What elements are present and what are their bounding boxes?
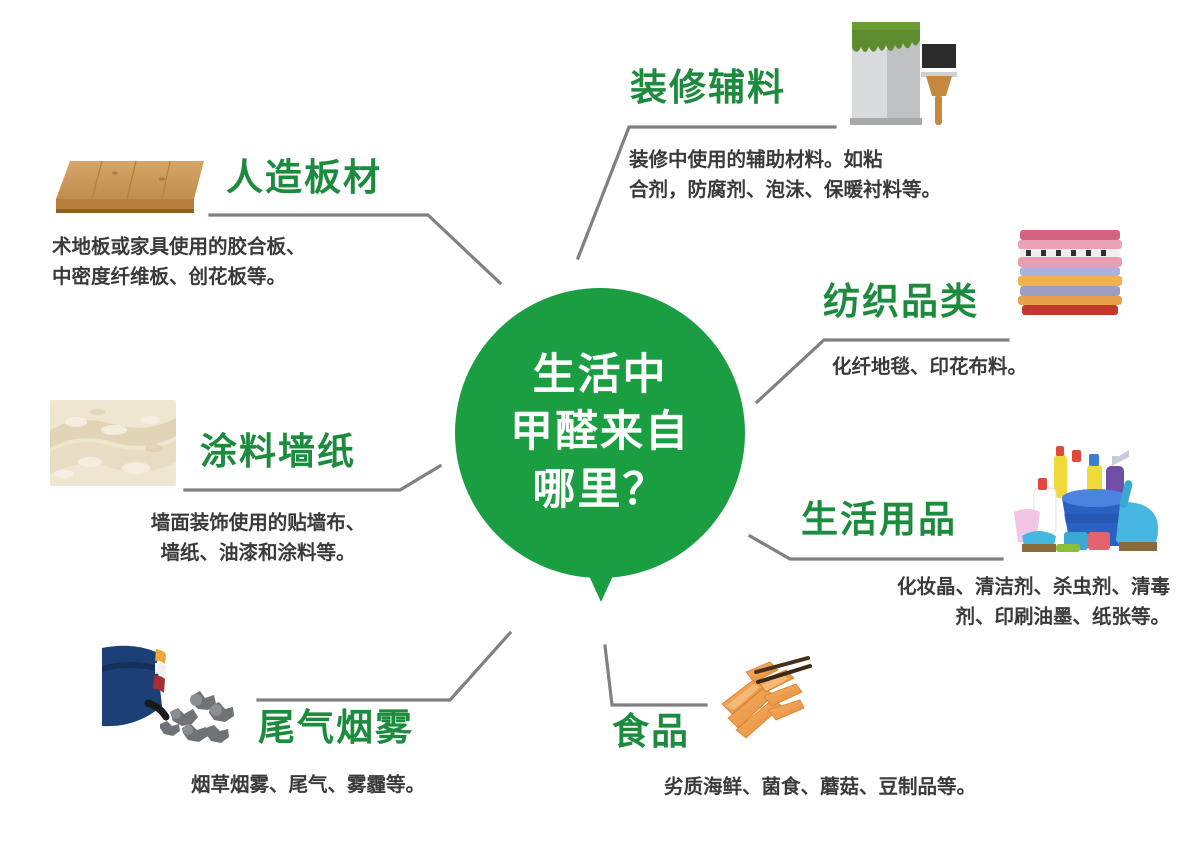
folded-towels-icon <box>1014 228 1126 320</box>
node-desc-wrap-artificial-boards: 术地板或家具使用的胶合板、 中密度纤维板、创花板等。 <box>52 232 452 292</box>
node-desc-daily-necessities: 化妆晶、清洁剂、杀虫剂、清毒 剂、印刷油墨、纸张等。 <box>790 572 1170 632</box>
node-desc-exhaust-smoke: 烟草烟雾、尾气、雾霾等。 <box>108 770 508 800</box>
node-exhaust-smoke[interactable]: 尾气烟雾 <box>258 708 414 747</box>
node-title-food: 食品 <box>612 712 690 751</box>
connector-food <box>605 646 706 705</box>
dried-tofu-chopsticks-icon <box>712 648 822 748</box>
node-decoration-materials[interactable]: 装修辅料 <box>630 68 786 107</box>
node-desc-wrap-paint-wallpaper: 墙面装饰使用的贴墙布、 墙纸、油漆和涂料等。 <box>78 508 438 568</box>
center-bubble-text: 生活中 甲醛来自 哪里？ <box>455 288 745 578</box>
wallpaper-rolls-icon <box>50 400 176 486</box>
center-bubble: 生活中 甲醛来自 哪里？ <box>455 288 745 618</box>
node-paint-wallpaper[interactable]: 涂料墙纸 <box>200 432 356 471</box>
center-bubble-line-3: 哪里？ <box>533 462 668 519</box>
center-bubble-line-2: 甲醛来自 <box>510 404 690 461</box>
node-desc-decoration-materials: 装修中使用的辅助材料。如粘 合剂，防腐剂、泡沫、保暖衬料等。 <box>629 145 1049 205</box>
node-food[interactable]: 食品 <box>612 712 690 751</box>
node-desc-food: 劣质海鲜、菌食、蘑菇、豆制品等。 <box>560 772 1080 802</box>
node-textiles[interactable]: 纺织品类 <box>823 282 979 321</box>
node-title-daily-necessities: 生活用品 <box>801 500 957 539</box>
wood-board-icon <box>52 155 212 220</box>
node-desc-wrap-food: 劣质海鲜、菌食、蘑菇、豆制品等。 <box>560 772 1080 802</box>
connector-exhaust-smoke <box>258 633 510 700</box>
infographic-canvas: 生活中 甲醛来自 哪里？ 装修辅料 装修中使用的辅助材料。如粘 合剂，防腐剂、泡… <box>0 0 1200 846</box>
node-title-textiles: 纺织品类 <box>823 282 979 321</box>
node-daily-necessities[interactable]: 生活用品 <box>801 500 957 539</box>
node-title-exhaust-smoke: 尾气烟雾 <box>258 708 414 747</box>
node-desc-wrap-daily-necessities: 化妆晶、清洁剂、杀虫剂、清毒 剂、印刷油墨、纸张等。 <box>790 572 1170 632</box>
cleaning-supplies-icon <box>1010 440 1170 562</box>
node-desc-artificial-boards: 术地板或家具使用的胶合板、 中密度纤维板、创花板等。 <box>52 232 452 292</box>
node-title-decoration-materials: 装修辅料 <box>630 68 786 107</box>
node-desc-wrap-exhaust-smoke: 烟草烟雾、尾气、雾霾等。 <box>108 770 508 800</box>
node-title-artificial-boards: 人造板材 <box>226 158 382 197</box>
node-desc-wrap-decoration-materials: 装修中使用的辅助材料。如粘 合剂，防腐剂、泡沫、保暖衬料等。 <box>629 145 1049 205</box>
node-artificial-boards[interactable]: 人造板材 <box>226 158 382 197</box>
car-exhaust-smoke-icon <box>98 640 243 745</box>
center-bubble-line-1: 生活中 <box>533 347 668 404</box>
node-desc-wrap-textiles: 化纤地毯、印花布料。 <box>832 352 1192 382</box>
node-desc-textiles: 化纤地毯、印花布料。 <box>832 352 1192 382</box>
node-desc-paint-wallpaper: 墙面装饰使用的贴墙布、 墙纸、油漆和涂料等。 <box>78 508 438 568</box>
node-title-paint-wallpaper: 涂料墙纸 <box>200 432 356 471</box>
paint-can-brush-icon <box>836 8 964 130</box>
